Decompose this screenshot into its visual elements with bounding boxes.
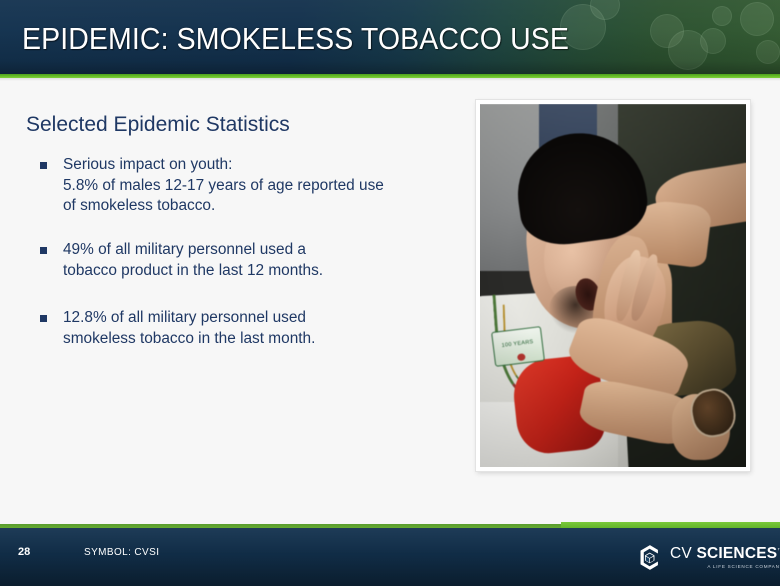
list-item: 12.8% of all military personnel used smo… — [40, 308, 460, 349]
slide-header: EPIDEMIC: SMOKELESS TOBACCO USE — [0, 0, 780, 74]
list-item-text: 12.8% of all military personnel used smo… — [63, 308, 315, 349]
square-bullet-icon — [40, 247, 47, 254]
page-title: EPIDEMIC: SMOKELESS TOBACCO USE — [22, 21, 569, 57]
logo-company-name: CV SCIENCES™ — [670, 543, 780, 562]
hexagon-cube-icon — [634, 543, 663, 572]
ticker-symbol: SYMBOL: CVSI — [84, 547, 159, 558]
list-item-text: Serious impact on youth: 5.8% of males 1… — [63, 155, 384, 217]
page-number: 28 — [18, 546, 30, 558]
logo-tagline: A LIFE SCIENCE COMPANY — [670, 564, 780, 569]
square-bullet-icon — [40, 162, 47, 169]
photo-smokeless-tobacco-player: 100 YEARS — [480, 104, 746, 467]
header-rule-shadow — [0, 78, 780, 81]
photo-frame: 100 YEARS — [476, 100, 750, 471]
section-subheading: Selected Epidemic Statistics — [26, 113, 290, 137]
list-item: 49% of all military personnel used a tob… — [40, 240, 460, 281]
logo-name-light: CV — [670, 546, 696, 563]
logo-name-bold: SCIENCES — [696, 546, 777, 563]
photo-softening-overlay — [480, 104, 746, 467]
list-item-text: 49% of all military personnel used a tob… — [63, 240, 323, 281]
company-logo: CV SCIENCES™ A LIFE SCIENCE COMPANY — [634, 541, 766, 573]
list-item: Serious impact on youth: 5.8% of males 1… — [40, 155, 460, 217]
logo-wordmark: CV SCIENCES™ A LIFE SCIENCE COMPANY — [670, 543, 780, 568]
square-bullet-icon — [40, 315, 47, 322]
slide: EPIDEMIC: SMOKELESS TOBACCO USE Selected… — [0, 0, 780, 586]
